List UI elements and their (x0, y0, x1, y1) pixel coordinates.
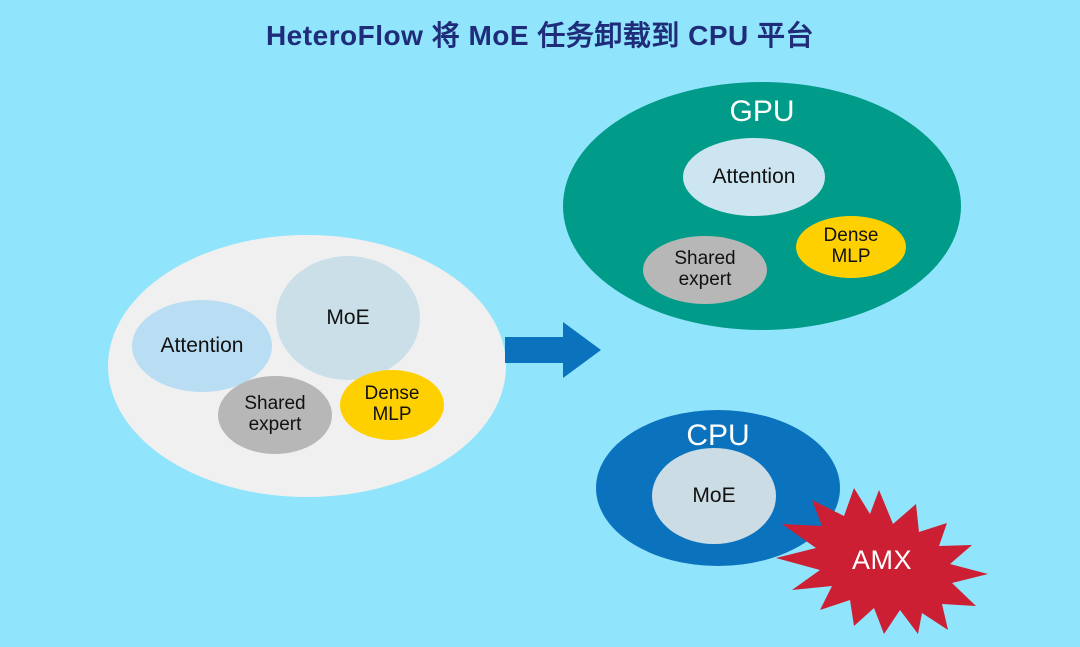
source-block-dense-mlp-label: Dense MLP (365, 384, 420, 425)
shared-expert-line-1: Shared (244, 393, 305, 414)
shared-expert-line-2: expert (249, 414, 302, 435)
cpu-block-moe: MoE (652, 448, 776, 544)
source-block-shared-expert: Shared expert (218, 376, 332, 454)
gpu-dense-mlp-line-1: Dense (824, 225, 879, 246)
page-title: HeteroFlow 将 MoE 任务卸载到 CPU 平台 (0, 14, 1080, 54)
dense-mlp-line-2: MLP (372, 404, 411, 425)
source-block-dense-mlp: Dense MLP (340, 370, 444, 440)
cpu-block-moe-label: MoE (692, 485, 735, 508)
gpu-block-shared-expert-label: Shared expert (674, 249, 735, 290)
amx-starburst-icon (776, 486, 988, 634)
gpu-block-dense-mlp-label: Dense MLP (824, 226, 879, 267)
gpu-block-attention: Attention (683, 138, 825, 216)
gpu-dense-mlp-line-2: MLP (831, 246, 870, 267)
dense-mlp-line-1: Dense (365, 383, 420, 404)
source-block-attention: Attention (132, 300, 272, 392)
gpu-shared-expert-line-2: expert (679, 269, 732, 290)
source-block-moe: MoE (276, 256, 420, 380)
gpu-block-dense-mlp: Dense MLP (796, 216, 906, 278)
source-block-attention-label: Attention (161, 335, 244, 358)
gpu-label: GPU (563, 96, 961, 128)
offload-arrow-icon (505, 322, 601, 378)
diagram-canvas: HeteroFlow 将 MoE 任务卸载到 CPU 平台 Attention … (0, 0, 1080, 647)
gpu-block-shared-expert: Shared expert (643, 236, 767, 304)
source-block-moe-label: MoE (326, 307, 369, 330)
gpu-shared-expert-line-1: Shared (674, 248, 735, 269)
gpu-block-attention-label: Attention (713, 166, 796, 189)
source-block-shared-expert-label: Shared expert (244, 394, 305, 435)
